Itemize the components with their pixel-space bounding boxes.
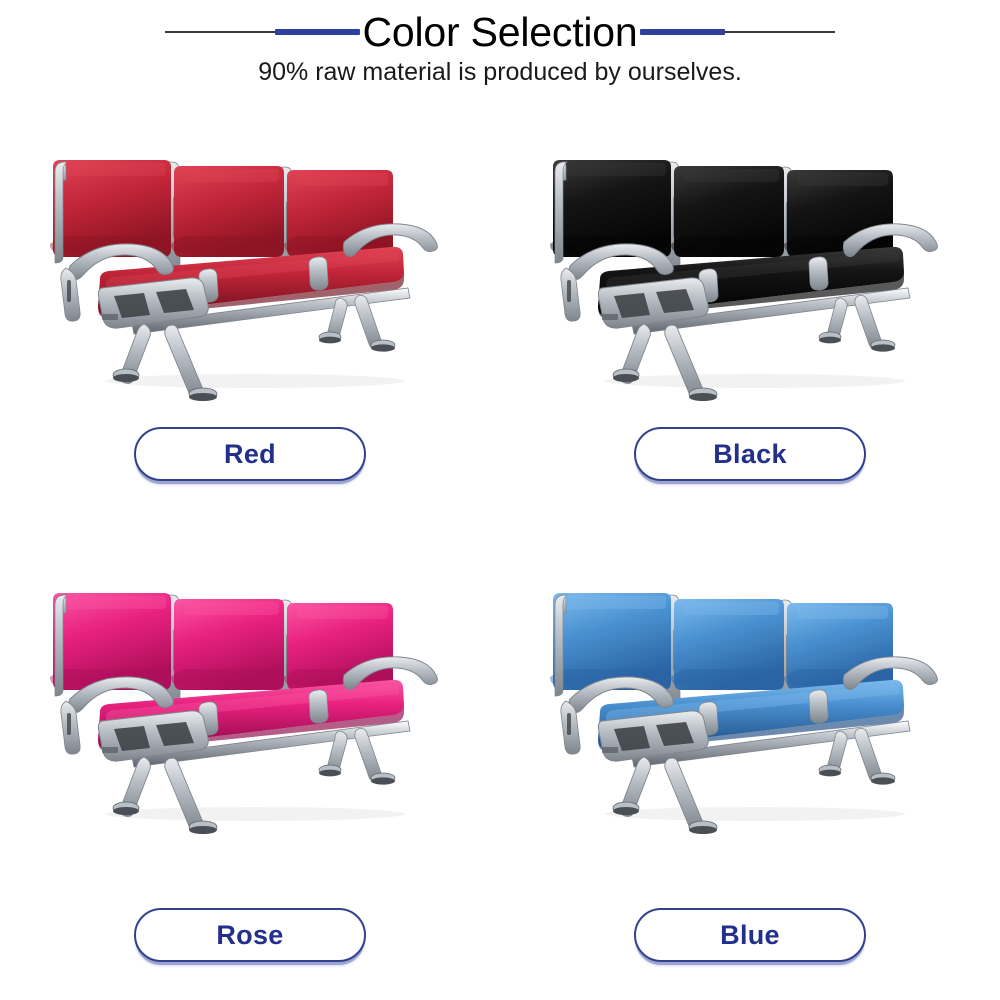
chair-image-rose xyxy=(20,503,480,908)
color-option-red[interactable]: Red xyxy=(0,118,500,503)
rule-thin-segment xyxy=(165,31,278,33)
page-subtitle: 90% raw material is produced by ourselve… xyxy=(0,58,1000,87)
rule-accent-segment xyxy=(275,29,361,35)
bench-chair-icon xyxy=(540,138,960,408)
title-rule-left xyxy=(165,27,360,37)
bench-chair-icon xyxy=(540,561,960,851)
color-option-black[interactable]: Black xyxy=(500,118,1000,503)
page-title: Color Selection xyxy=(360,12,639,53)
chair-image-red xyxy=(20,118,480,427)
page-header: Color Selection 90% raw material is prod… xyxy=(0,0,1000,108)
rule-thin-segment xyxy=(721,31,834,33)
label-button-text: Red xyxy=(224,441,276,468)
rule-accent-segment xyxy=(640,29,726,35)
color-option-grid: Red Black Rose xyxy=(0,118,1000,1000)
label-button-text: Black xyxy=(713,441,787,468)
title-row: Color Selection xyxy=(0,6,1000,58)
label-button-blue[interactable]: Blue xyxy=(634,908,866,962)
label-button-black[interactable]: Black xyxy=(634,427,866,481)
label-button-rose[interactable]: Rose xyxy=(134,908,366,962)
title-rule-right xyxy=(640,27,835,37)
color-option-blue[interactable]: Blue xyxy=(500,503,1000,1000)
chair-image-blue xyxy=(520,503,980,908)
bench-chair-icon xyxy=(40,561,460,851)
bench-chair-icon xyxy=(40,138,460,408)
color-option-rose[interactable]: Rose xyxy=(0,503,500,1000)
color-selection-page: Color Selection 90% raw material is prod… xyxy=(0,0,1000,1000)
label-button-text: Rose xyxy=(216,922,283,949)
chair-image-black xyxy=(520,118,980,427)
label-button-text: Blue xyxy=(720,922,780,949)
label-button-red[interactable]: Red xyxy=(134,427,366,481)
